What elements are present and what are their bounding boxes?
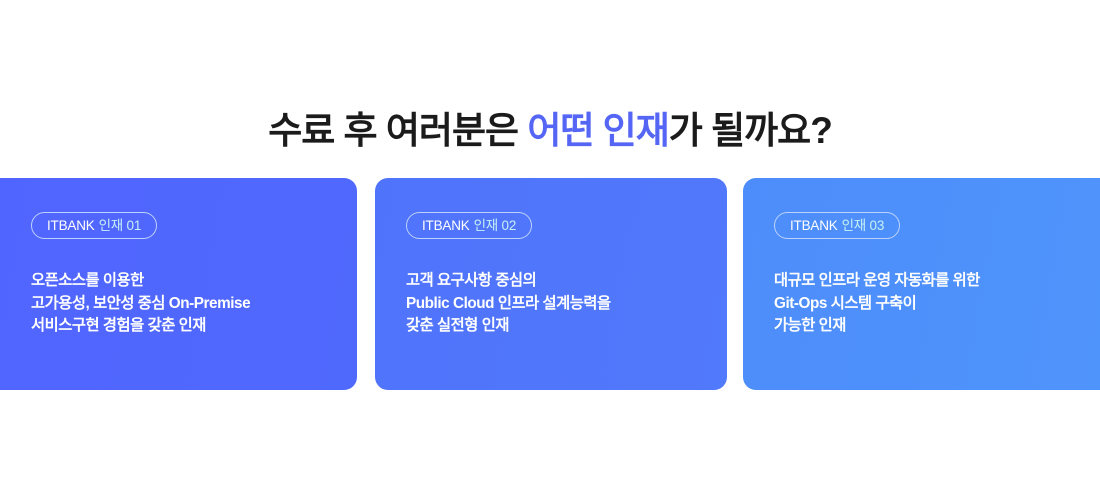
page-title-prefix: 수료 후 여러분은 [268,110,527,151]
card-01-body-line-1: 오픈소스를 이용한 [31,270,250,293]
talent-cards-row: ITBANK 인재 01 오픈소스를 이용한 고가용성, 보안성 중심 On-P… [0,178,1100,390]
card-03-badge-label: 인재 03 [842,219,885,233]
page-title: 수료 후 여러분은 어떤 인재가 될까요? [0,107,1100,155]
card-01-badge-label: 인재 01 [99,219,142,233]
page-title-accent: 어떤 인재 [527,110,668,151]
page-title-suffix: 가 될까요? [669,110,832,151]
talent-card-03[interactable]: ITBANK 인재 03 대규모 인프라 운영 자동화를 위한 Git-Ops … [743,178,1100,390]
card-01-body: 오픈소스를 이용한 고가용성, 보안성 중심 On-Premise 서비스구현 … [31,270,250,338]
card-02-body-line-3: 갖춘 실전형 인재 [406,315,611,338]
card-03-body-line-1: 대규모 인프라 운영 자동화를 위한 [774,270,980,293]
card-03-body-line-2: Git-Ops 시스템 구축이 [774,293,980,316]
card-01-body-line-2: 고가용성, 보안성 중심 On-Premise [31,293,250,316]
card-03-body: 대규모 인프라 운영 자동화를 위한 Git-Ops 시스템 구축이 가능한 인… [774,270,980,338]
card-02-body: 고객 요구사항 중심의 Public Cloud 인프라 설계능력을 갖춘 실전… [406,270,611,338]
talent-card-02[interactable]: ITBANK 인재 02 고객 요구사항 중심의 Public Cloud 인프… [375,178,727,390]
card-03-body-line-3: 가능한 인재 [774,315,980,338]
card-02-badge: ITBANK 인재 02 [406,212,532,239]
card-02-badge-label: 인재 02 [474,219,517,233]
talent-card-01[interactable]: ITBANK 인재 01 오픈소스를 이용한 고가용성, 보안성 중심 On-P… [0,178,357,390]
card-01-badge: ITBANK 인재 01 [31,212,157,239]
card-02-body-line-2: Public Cloud 인프라 설계능력을 [406,293,611,316]
card-01-badge-brand: ITBANK [47,219,95,233]
card-03-badge: ITBANK 인재 03 [774,212,900,239]
card-03-badge-brand: ITBANK [790,219,838,233]
card-01-body-line-3: 서비스구현 경험을 갖춘 인재 [31,315,250,338]
card-02-badge-brand: ITBANK [422,219,470,233]
card-02-body-line-1: 고객 요구사항 중심의 [406,270,611,293]
